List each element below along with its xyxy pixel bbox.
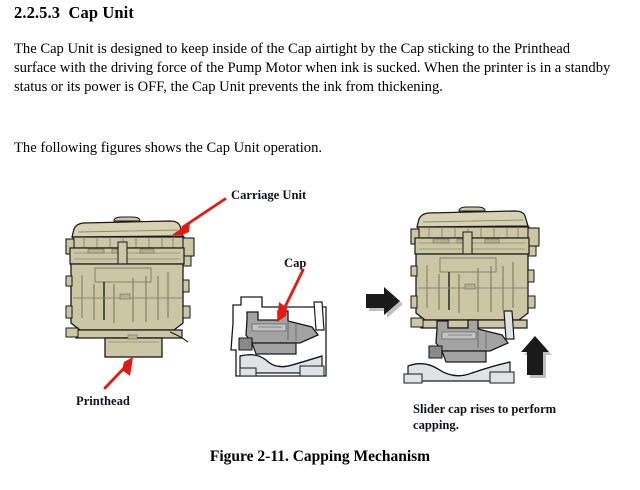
body-paragraph: The Cap Unit is designed to keep inside … (14, 40, 614, 98)
callout-label-cap: Cap (284, 256, 306, 271)
callout-label-slider-note: Slider cap rises to perform capping. (413, 402, 593, 433)
figure-caption: Figure 2-11. Capping Mechanism (0, 448, 640, 466)
transition-arrow-icon (366, 287, 403, 318)
printhead-callout-arrow-icon (105, 357, 133, 388)
callout-label-printhead: Printhead (76, 394, 130, 409)
printhead-block (105, 338, 162, 357)
right-carriage-assembly (404, 207, 539, 383)
rise-arrow-icon (521, 336, 552, 378)
document-page: 2.2.5.3 Cap Unit The Cap Unit is designe… (0, 0, 640, 490)
left-carriage-assembly (66, 217, 194, 357)
carriage-unit-callout-arrow-icon (172, 199, 225, 235)
callout-label-carriage-unit: Carriage Unit (231, 188, 306, 203)
body-paragraph: The following figures shows the Cap Unit… (14, 139, 614, 158)
page-title: 2.2.5.3 Cap Unit (14, 3, 134, 23)
